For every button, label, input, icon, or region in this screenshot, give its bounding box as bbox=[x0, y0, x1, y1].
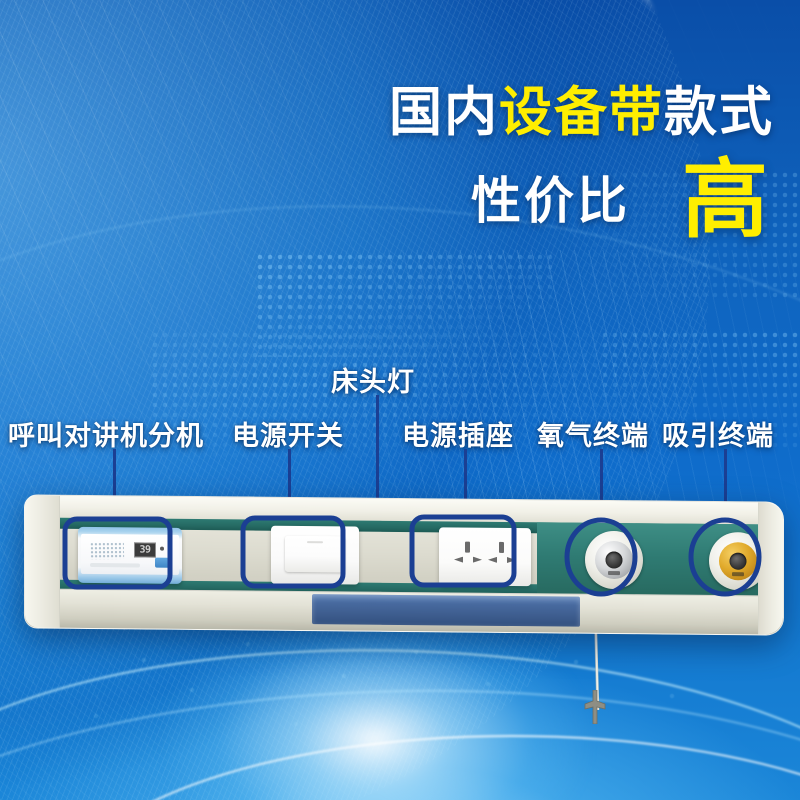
bed-lamp-diffuser[interactable] bbox=[312, 594, 580, 627]
callout-label-power-socket: 电源插座 bbox=[402, 414, 514, 453]
callout-label-oxygen-terminal: 氧气终端 bbox=[537, 414, 649, 453]
speaker-grille-icon bbox=[90, 542, 124, 559]
socket-outlet-1[interactable] bbox=[453, 541, 483, 571]
intercom-slot bbox=[90, 563, 140, 567]
medical-bed-head-unit: 39 bbox=[24, 498, 784, 632]
panel-body: 39 bbox=[24, 494, 784, 635]
promo-banner: 国内设备带款式 性价比 高 呼叫对讲机分机 电源开关 床头灯 电源插座 氧气终端… bbox=[0, 0, 800, 800]
socket-neutral-slot-icon bbox=[473, 557, 482, 563]
suction-terminal-port-icon[interactable] bbox=[730, 553, 747, 570]
cross-fitting-icon bbox=[584, 690, 606, 724]
power-switch[interactable] bbox=[271, 526, 359, 585]
status-led-icon bbox=[160, 547, 164, 551]
socket-earth-slot-icon bbox=[499, 542, 504, 553]
callout-label-nurse-call-intercom: 呼叫对讲机分机 bbox=[8, 414, 204, 453]
callout-layer: 呼叫对讲机分机 电源开关 床头灯 电源插座 氧气终端 吸引终端 bbox=[0, 0, 800, 800]
socket-live-slot-icon bbox=[488, 557, 497, 563]
callout-label-power-switch: 电源开关 bbox=[232, 414, 344, 453]
panel-end-cap-right bbox=[758, 502, 783, 634]
oxygen-terminal[interactable] bbox=[585, 531, 643, 590]
oxygen-terminal-port-icon[interactable] bbox=[606, 551, 623, 568]
suction-terminal-ring bbox=[719, 542, 757, 580]
power-socket[interactable] bbox=[439, 527, 531, 586]
socket-earth-slot-icon bbox=[465, 542, 470, 553]
switch-notch bbox=[307, 541, 323, 543]
nurse-call-intercom[interactable]: 39 bbox=[78, 527, 182, 584]
intercom-display: 39 bbox=[134, 542, 156, 557]
panel-end-cap-left bbox=[25, 495, 60, 627]
intercom-call-button[interactable] bbox=[155, 558, 170, 568]
suction-terminal-marking bbox=[732, 572, 744, 576]
intercom-faceplate: 39 bbox=[81, 534, 179, 575]
callout-label-suction-terminal: 吸引终端 bbox=[662, 414, 774, 453]
socket-outlet-2[interactable] bbox=[487, 542, 517, 572]
callout-label-bed-lamp: 床头灯 bbox=[331, 360, 415, 399]
socket-neutral-slot-icon bbox=[507, 557, 516, 563]
switch-rocker[interactable] bbox=[285, 536, 345, 573]
socket-live-slot-icon bbox=[454, 556, 463, 562]
oxygen-terminal-ring bbox=[595, 541, 633, 579]
oxygen-terminal-marking bbox=[608, 571, 620, 575]
